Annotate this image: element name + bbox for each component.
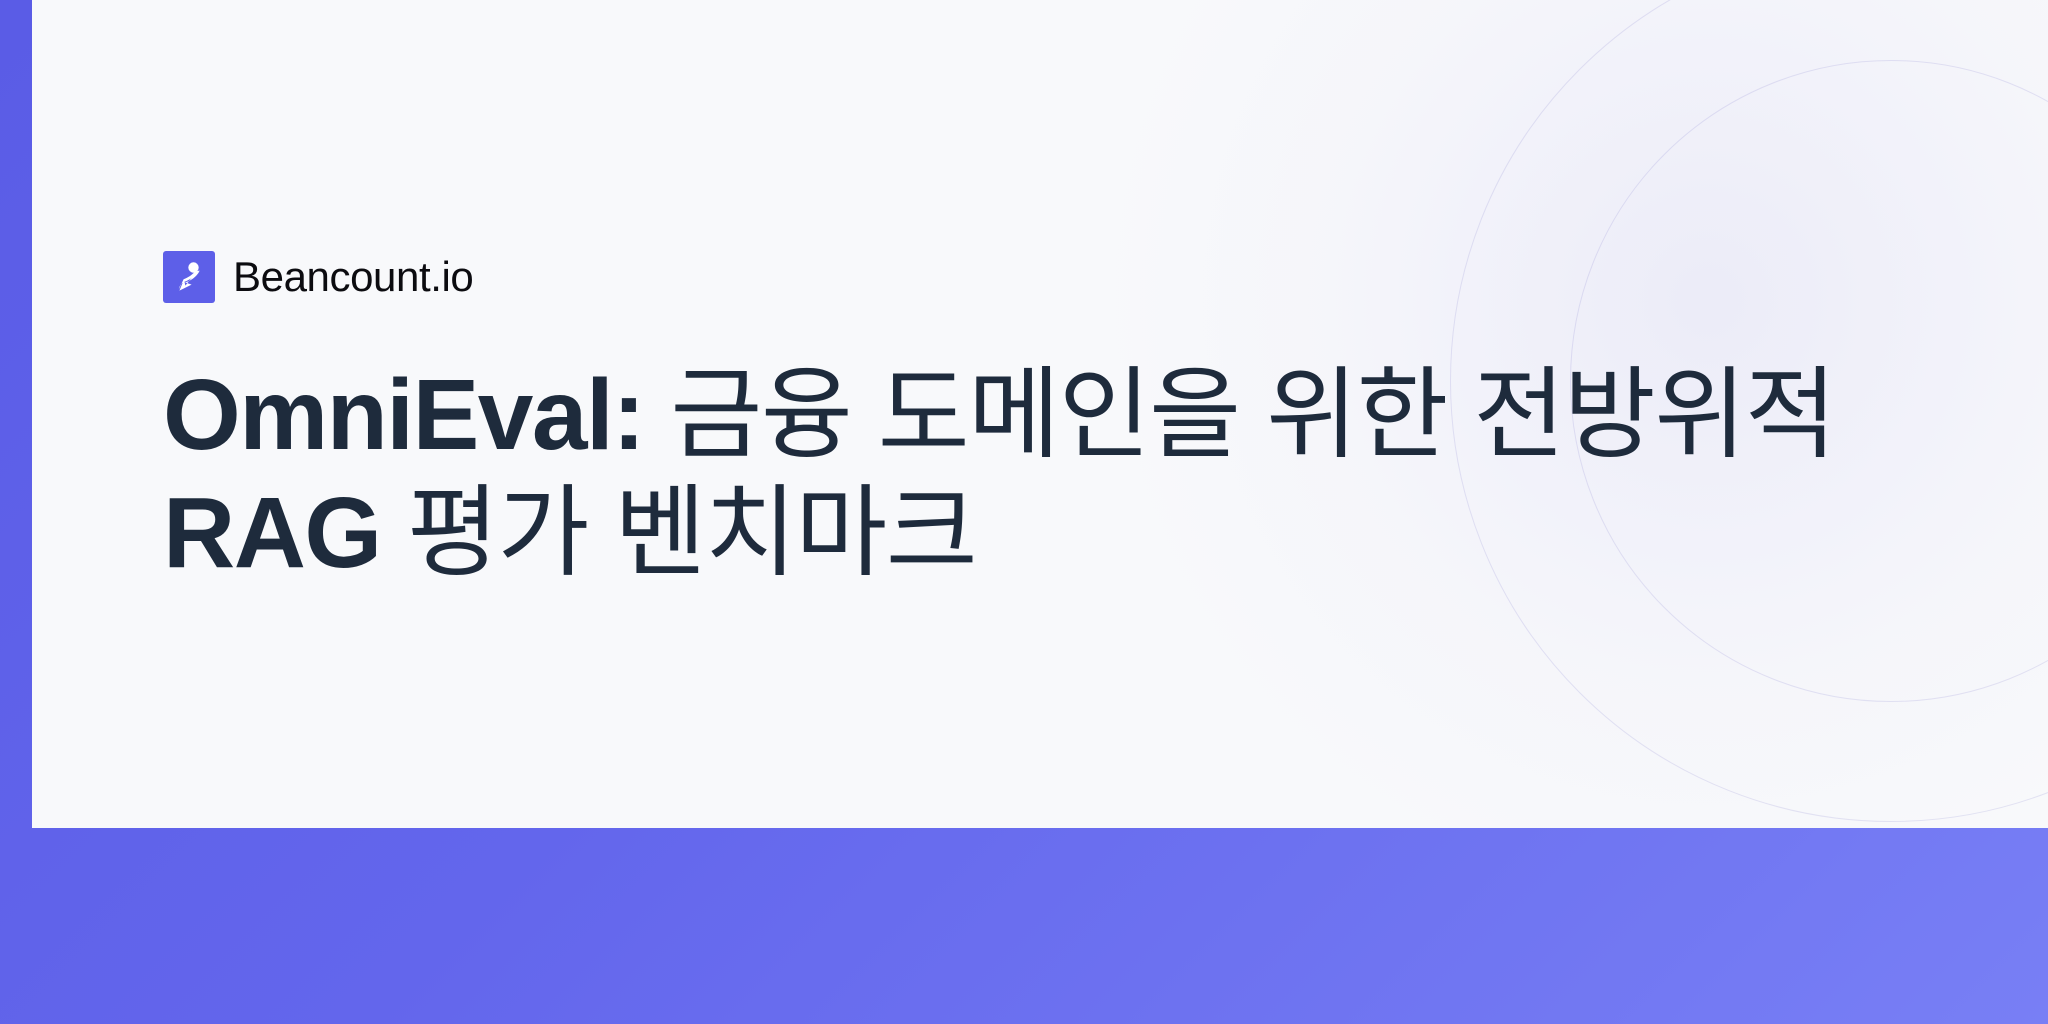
brand-name-label: Beancount.io [233, 256, 473, 298]
page-title: OmniEval: 금융 도메인을 위한 전방위적 RAG 평가 벤치마크 [163, 356, 1523, 592]
og-card-canvas: Beancount.io OmniEval: 금융 도메인을 위한 전방위적 R… [0, 0, 2048, 1024]
page-title-rest-1: 금융 도메인을 위한 전방위적 [644, 359, 1835, 471]
page-title-strong-1: OmniEval: [163, 359, 644, 471]
hero-content: Beancount.io OmniEval: 금융 도메인을 위한 전방위적 R… [163, 250, 1663, 659]
page-title-line-1: OmniEval: 금융 도메인을 위한 전방위적 [163, 356, 1523, 474]
brand-lockup[interactable]: Beancount.io [163, 250, 1663, 304]
page-title-line-2: RAG 평가 벤치마크 [163, 474, 1523, 592]
page-title-rest-2: 평가 벤치마크 [381, 477, 977, 589]
running-figure-icon [163, 251, 215, 303]
hero-card: Beancount.io OmniEval: 금융 도메인을 위한 전방위적 R… [32, 0, 2048, 828]
page-title-strong-2: RAG [163, 477, 381, 589]
